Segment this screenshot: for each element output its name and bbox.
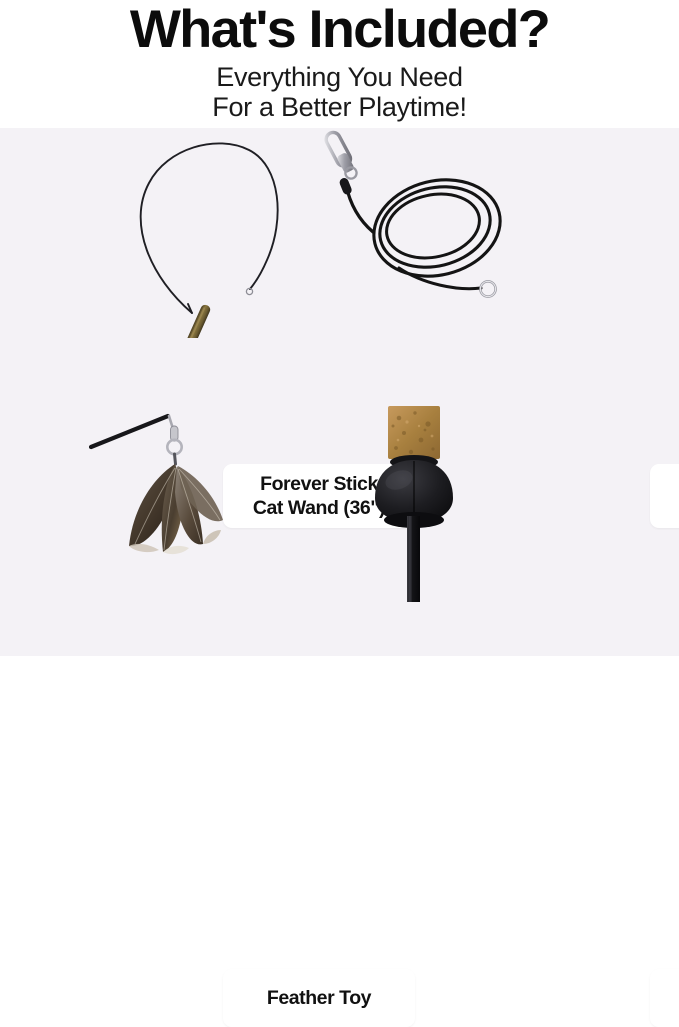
subtitle-line-2: For a Better Playtime! xyxy=(0,92,679,122)
subtitle-line-1: Everything You Need xyxy=(0,62,679,92)
page-title: What's Included? xyxy=(0,0,679,58)
feather-toy-icon xyxy=(89,392,339,602)
paracord-string-icon xyxy=(303,128,553,338)
product-label-wall-mount: Self-adhesive Wall Mount xyxy=(650,969,679,1027)
product-grid: Forever Stick Cat Wand (36") xyxy=(0,128,679,656)
label-line-1: Feather Toy xyxy=(267,987,371,1009)
product-features-infographic: What's Included? Everything You Need For… xyxy=(0,0,679,656)
product-cell-cat-wand: Forever Stick Cat Wand (36") xyxy=(89,128,339,392)
cat-wand-icon xyxy=(89,128,339,338)
product-cell-paracord: Paracord String (36") xyxy=(303,128,553,392)
header-band: What's Included? Everything You Need For… xyxy=(0,0,679,128)
page-subtitle: Everything You Need For a Better Playtim… xyxy=(0,58,679,122)
product-label-paracord: Paracord String (36") xyxy=(650,464,679,528)
product-cell-wall-mount: Self-adhesive Wall Mount xyxy=(303,392,553,656)
wall-mount-icon xyxy=(303,392,553,602)
product-cell-feather-toy: Feather Toy xyxy=(89,392,339,656)
product-label-feather-toy: Feather Toy xyxy=(223,969,415,1027)
